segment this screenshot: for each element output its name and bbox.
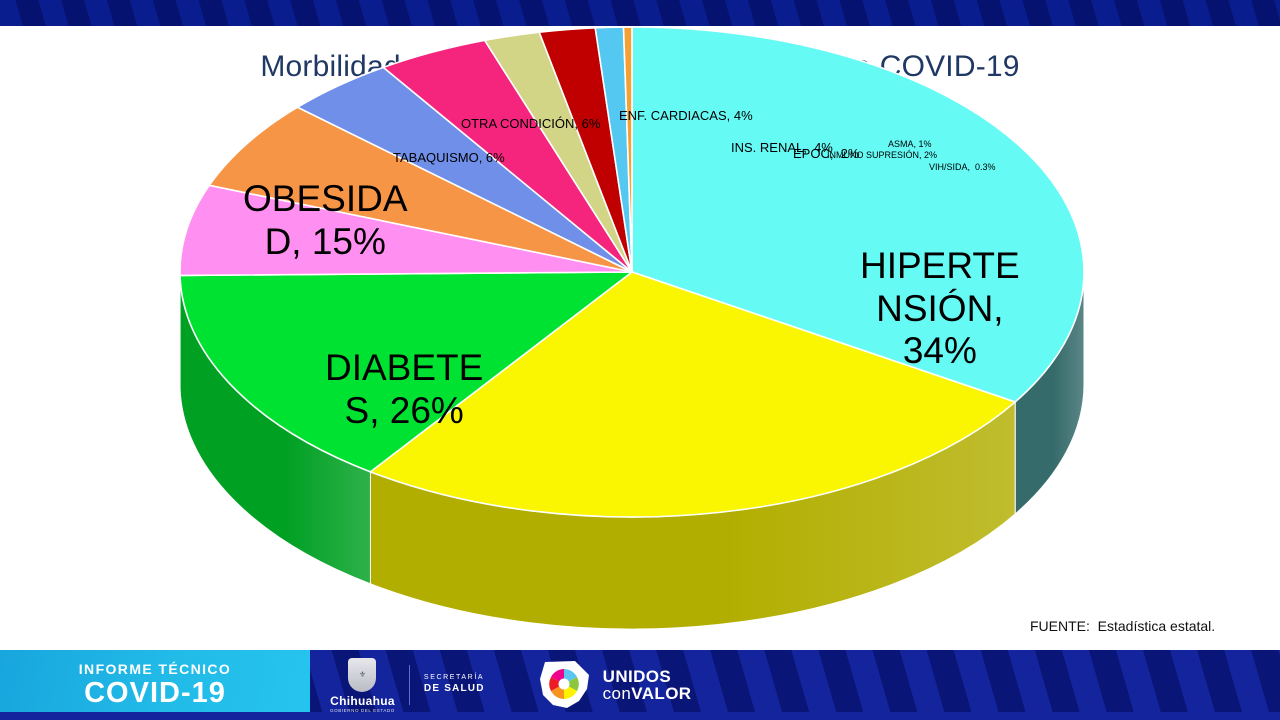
- ministry-line2: DE SALUD: [424, 683, 485, 696]
- slogan-valor: VALOR: [631, 684, 691, 703]
- pie-label-vihsida: VIH/SIDA, 0.3%: [929, 162, 996, 172]
- report-brand-line2: COVID-19: [84, 679, 226, 708]
- slogan-line1: UNIDOS: [603, 668, 692, 685]
- source-note: FUENTE: Estadística estatal.: [1030, 618, 1215, 634]
- report-brand-block: INFORME TÉCNICO COVID-19: [0, 650, 310, 720]
- secretaria-de-salud-logo: SECRETARÍA DE SALUD: [424, 674, 485, 695]
- pie-label-inmuno: INMUNO SUPRESIÓN, 2%: [827, 150, 937, 160]
- slogan-line2: conVALOR: [603, 685, 692, 702]
- pie-label-cardiacas: ENF. CARDIACAS, 4%: [619, 109, 753, 124]
- pie-label-diabetes: DIABETE S, 26%: [325, 347, 483, 432]
- footer-bottom-line: [0, 712, 1280, 720]
- chihuahua-logo: ⚜ Chihuahua GOBIERNO DEL ESTADO: [330, 658, 395, 713]
- pie-label-obesidad: OBESIDA D, 15%: [243, 178, 408, 263]
- pie-label-hipertension: HIPERTE NSIÓN, 34%: [860, 245, 1020, 373]
- pie-label-otra: OTRA CONDICIÓN, 6%: [461, 117, 600, 132]
- unidos-con-valor-logo: UNIDOS conVALOR: [535, 659, 692, 711]
- slogan-con: con: [603, 684, 632, 703]
- footer-logos: ⚜ Chihuahua GOBIERNO DEL ESTADO SECRETAR…: [330, 650, 692, 720]
- shield-icon: ⚜: [348, 658, 376, 692]
- report-brand-line1: INFORME TÉCNICO: [79, 662, 231, 676]
- chihuahua-logo-name: Chihuahua: [330, 694, 395, 708]
- footer-banner: INFORME TÉCNICO COVID-19 ⚜ Chihuahua GOB…: [0, 650, 1280, 720]
- unidos-con-valor-text: UNIDOS conVALOR: [603, 668, 692, 702]
- logo-divider: [409, 665, 410, 705]
- ministry-line1: SECRETARÍA: [424, 674, 485, 683]
- pie-label-tabaquismo: TABAQUISMO, 6%: [393, 151, 505, 166]
- pie-label-asma: ASMA, 1%: [888, 139, 932, 149]
- chihuahua-map-icon: [535, 659, 595, 711]
